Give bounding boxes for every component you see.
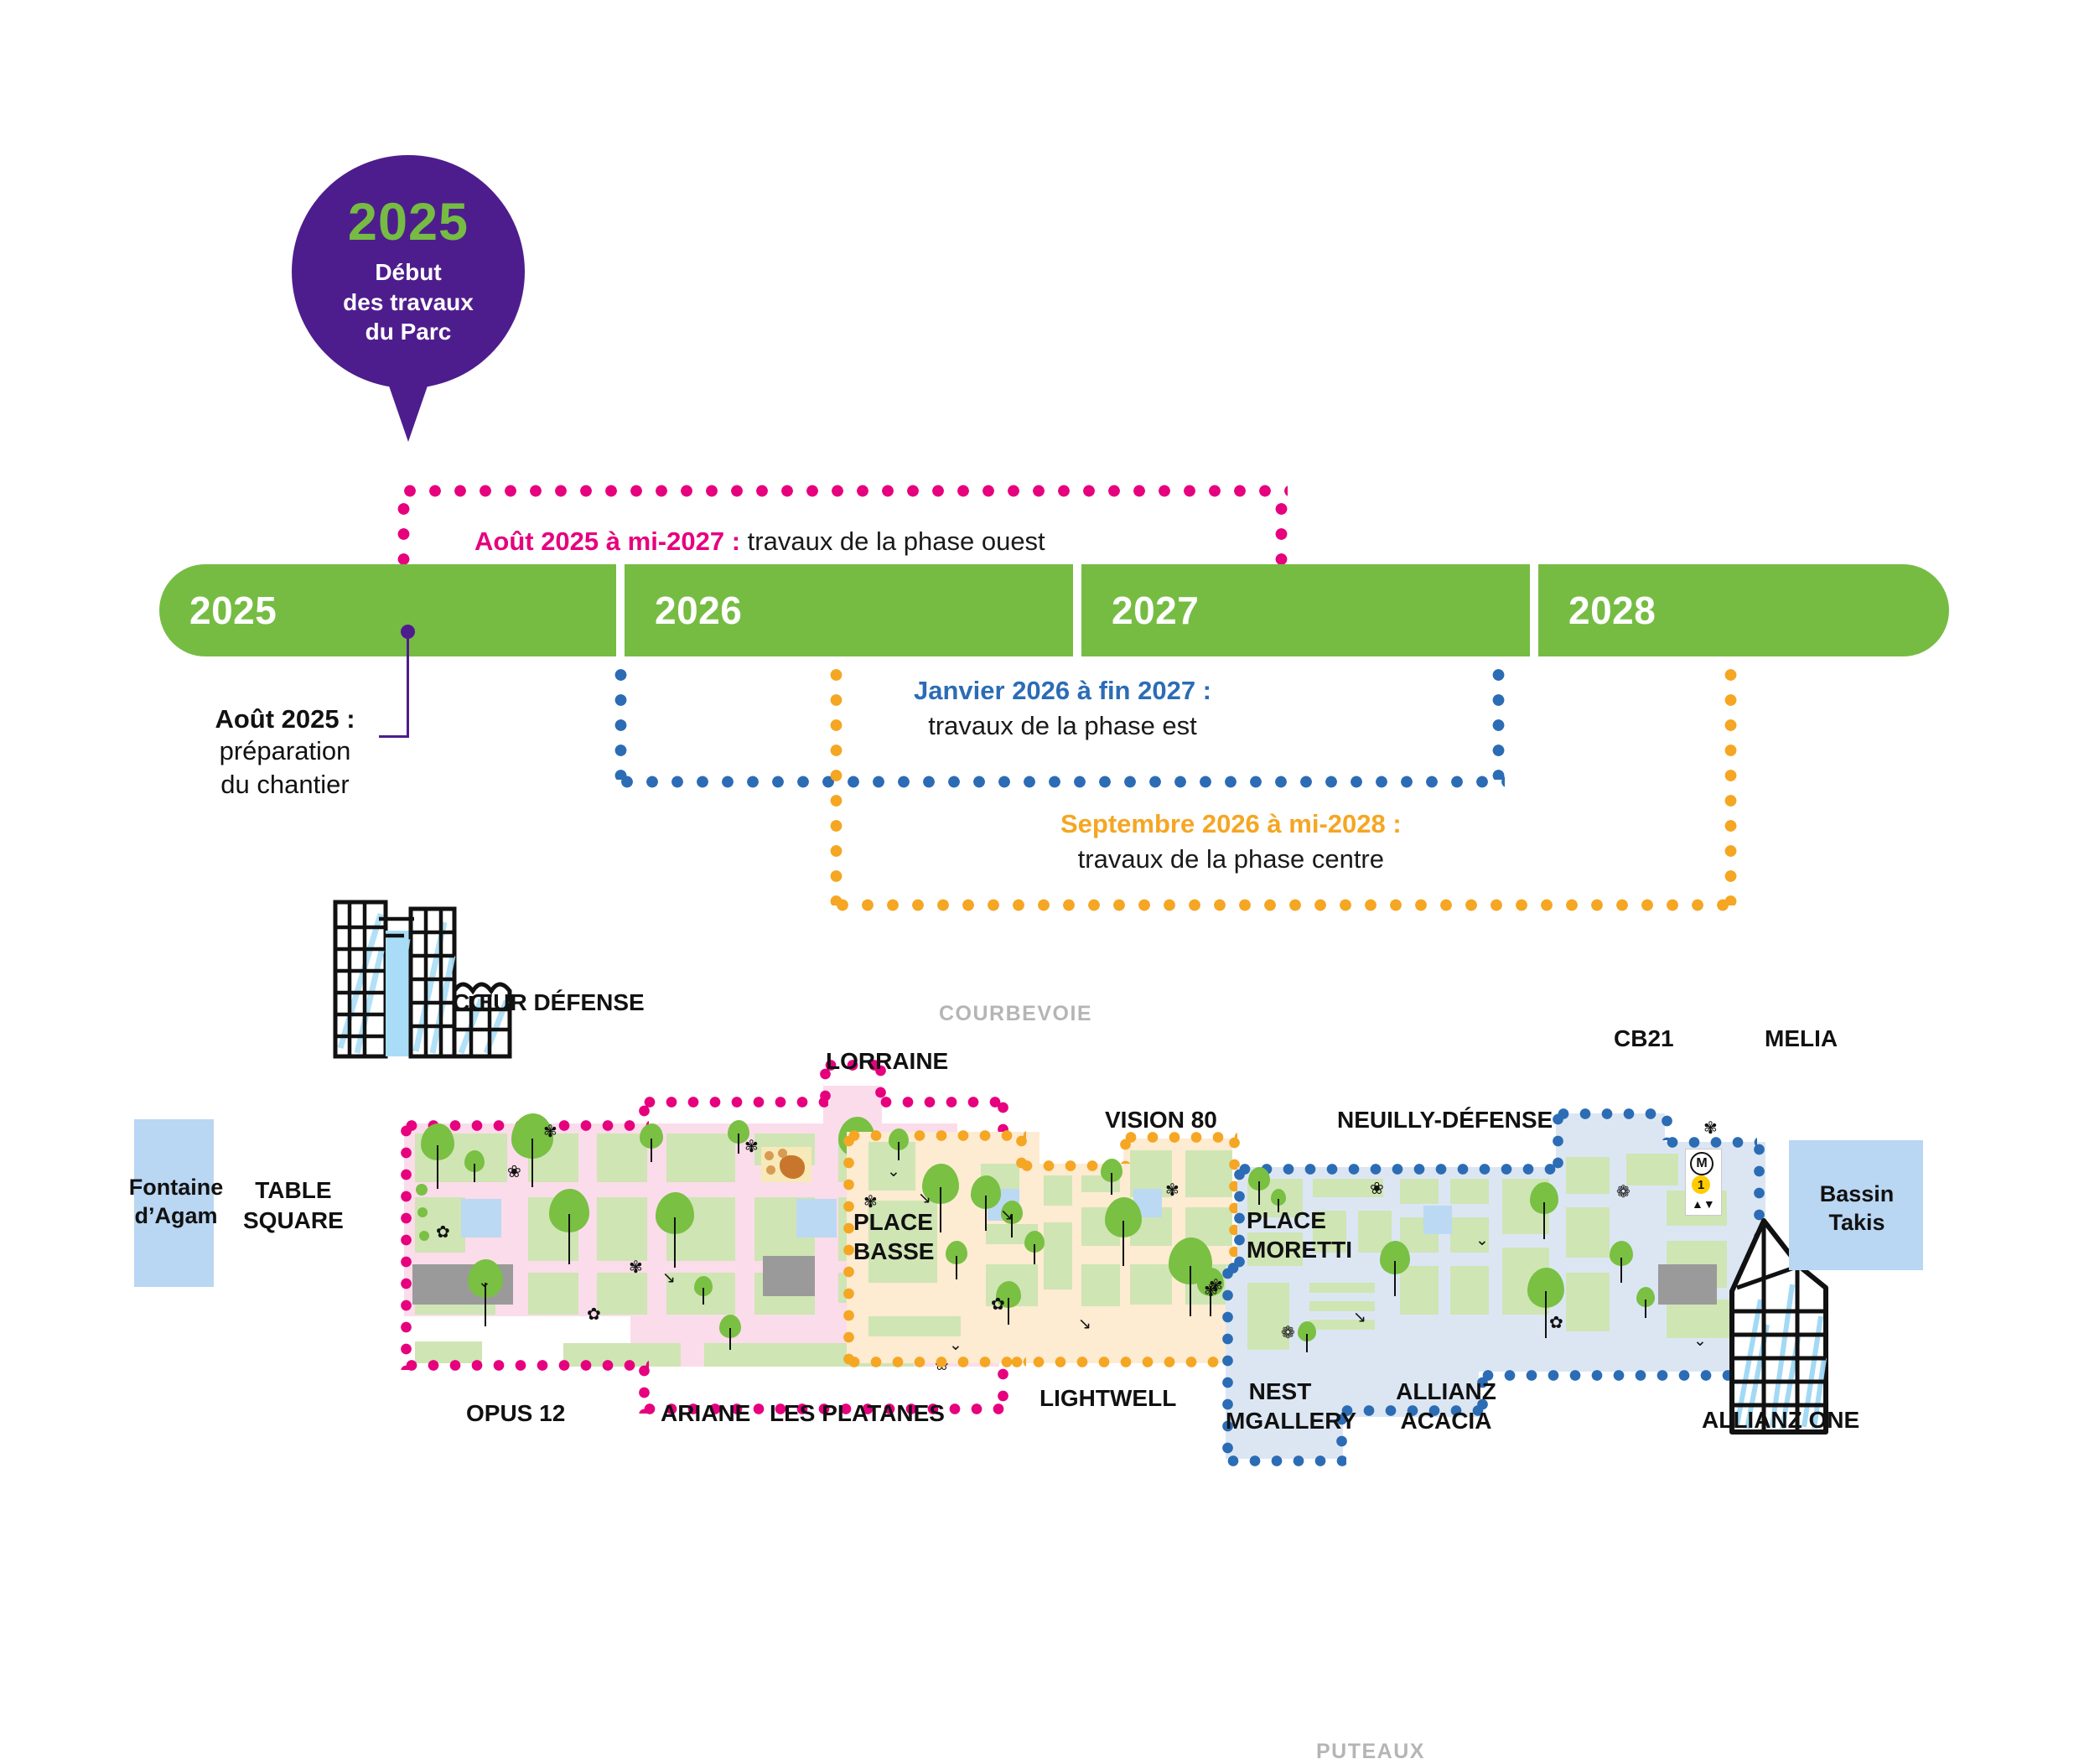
- tree-icon: [694, 1276, 713, 1306]
- bird-icon: ⌄: [949, 1337, 962, 1353]
- label-neuilly-defense: NEUILLY-DÉFENSE: [1337, 1107, 1553, 1134]
- bush-icon: [417, 1207, 428, 1217]
- coeur-defense-tower-icon: [327, 897, 520, 1065]
- phase-centre-bold: Septembre 2026 à mi-2028 :: [1060, 809, 1402, 839]
- plaza-shape: [780, 1155, 805, 1179]
- block-green: [1400, 1179, 1439, 1204]
- plaza-dot: [766, 1165, 775, 1175]
- callout-aout-2025: Août 2025 : préparation du chantier: [159, 704, 411, 802]
- tree-icon: [1636, 1287, 1655, 1319]
- label-table-square-l1: TABLE: [243, 1175, 344, 1206]
- block-green: [597, 1197, 647, 1261]
- bird-icon: ↘: [1000, 1207, 1014, 1223]
- tree-icon: [1101, 1159, 1122, 1196]
- zone-ouest-outline-top-c: [875, 1097, 1006, 1108]
- label-melia: MELIA: [1765, 1025, 1838, 1052]
- pond: [1423, 1206, 1452, 1234]
- zone-ouest-outline-bottom-a: [401, 1360, 649, 1371]
- label-vision-80: VISION 80: [1105, 1107, 1217, 1134]
- label-allianz-l2: ACACIA: [1387, 1406, 1505, 1435]
- flower-icon: ✾: [1209, 1278, 1223, 1294]
- bush-icon: [419, 1231, 429, 1241]
- flower-icon: ✾: [1165, 1182, 1179, 1199]
- plaza-dot: [778, 1149, 787, 1158]
- tree-icon: [468, 1259, 503, 1326]
- pond: [796, 1199, 837, 1237]
- flower-icon: ✿: [587, 1306, 601, 1323]
- pin-subtitle-line1: Début: [343, 257, 474, 288]
- phase-centre-rest: travaux de la phase centre: [1060, 844, 1402, 874]
- pin-year: 2025: [348, 196, 469, 249]
- block-green: [868, 1316, 961, 1336]
- label-nest-mgallery: NEST MGALLERY: [1226, 1377, 1335, 1435]
- flower-icon: ✿: [1549, 1315, 1563, 1331]
- phase-est-bracket-right: [1492, 662, 1505, 780]
- zone-est-outline-cb21-top: [1553, 1108, 1667, 1119]
- block-green: [1566, 1273, 1610, 1331]
- label-les-platanes: LES PLATANES: [770, 1400, 945, 1427]
- label-allianz-l1: ALLIANZ: [1387, 1377, 1505, 1406]
- phase-est-bracket-bottom: [614, 776, 1505, 788]
- flower-icon: ✾: [863, 1194, 878, 1211]
- label-table-square: TABLE SQUARE: [243, 1175, 344, 1237]
- label-bassin-takis-l1: Bassin: [1802, 1180, 1911, 1209]
- label-table-square-l2: SQUARE: [243, 1206, 344, 1236]
- zone-est-outline-left-upper: [1234, 1164, 1245, 1268]
- block-green: [1626, 1154, 1678, 1186]
- label-allianz-acacia: ALLIANZ ACACIA: [1387, 1377, 1505, 1435]
- phase-ouest-label: Août 2025 à mi-2027 : travaux de la phas…: [474, 527, 1045, 557]
- block-green: [1185, 1150, 1232, 1197]
- phase-centre-bracket-left: [830, 662, 842, 905]
- timeline-segment-2027[interactable]: 2027: [1081, 564, 1530, 656]
- flower-icon: ✾: [744, 1139, 759, 1155]
- bird-icon: ↘: [1078, 1316, 1091, 1332]
- tree-icon: [640, 1123, 663, 1164]
- phase-ouest-bold: Août 2025 à mi-2027 :: [474, 527, 740, 556]
- grey-block: [763, 1256, 815, 1296]
- tree-icon: [464, 1150, 485, 1184]
- label-fontaine-agam-l2: d’Agam: [117, 1202, 235, 1231]
- phase-est-label: Janvier 2026 à fin 2027 : travaux de la …: [914, 676, 1211, 741]
- flower-icon: ❁: [1616, 1184, 1631, 1201]
- bird-icon: ↘: [662, 1270, 676, 1286]
- zone-centre-outline-bottom-a: [843, 1357, 1026, 1367]
- label-bassin-takis-l2: Takis: [1802, 1209, 1911, 1237]
- bird-icon: ↘: [918, 1191, 931, 1206]
- block-green: [666, 1134, 735, 1182]
- label-bassin-takis: Bassin Takis: [1802, 1180, 1911, 1237]
- tree-icon: [1105, 1197, 1142, 1268]
- phase-ouest-rest: travaux de la phase ouest: [748, 527, 1045, 556]
- timeline-year-2027: 2027: [1112, 588, 1199, 633]
- map-container[interactable]: COURBEVOIE PUTEAUX: [0, 872, 2079, 1585]
- label-lorraine: LORRAINE: [826, 1048, 948, 1075]
- pin-subtitle-line2: des travaux: [343, 288, 474, 318]
- block-green: [1450, 1179, 1489, 1204]
- milestone-pin: 2025 Début des travaux du Parc: [292, 155, 525, 388]
- zone-est-outline-cb21-left: [1553, 1108, 1563, 1169]
- flower-icon: ✾: [629, 1259, 643, 1276]
- label-opus-12: OPUS 12: [466, 1400, 565, 1427]
- zone-centre-outline-top-a: [843, 1130, 1026, 1141]
- tree-icon: [1380, 1241, 1410, 1296]
- label-nest-l2: MGALLERY: [1226, 1406, 1335, 1435]
- block-green: [1566, 1157, 1610, 1194]
- bush-icon: [416, 1184, 428, 1196]
- metro-m-icon: M: [1690, 1152, 1713, 1175]
- city-label-puteaux: PUTEAUX: [1316, 1740, 1425, 1764]
- bird-icon: ⌄: [1475, 1232, 1489, 1248]
- zone-est-outline-top-a: [1234, 1164, 1561, 1175]
- zone-ouest-outline-top-b: [639, 1097, 828, 1108]
- timeline-year-2025: 2025: [189, 588, 277, 633]
- label-coeur-defense: CŒUR DÉFENSE: [453, 989, 645, 1016]
- label-cb21: CB21: [1614, 1025, 1674, 1052]
- block-green: [1081, 1264, 1120, 1306]
- flower-icon: ❀: [1370, 1180, 1384, 1197]
- tree-icon: [656, 1192, 694, 1269]
- label-place-moretti-l1: PLACE: [1247, 1206, 1352, 1235]
- block-green: [1130, 1264, 1172, 1305]
- zone-ouest-outline-left: [401, 1120, 412, 1370]
- flower-icon: ✿: [991, 1296, 1005, 1313]
- tree-icon: [1610, 1241, 1633, 1284]
- label-place-basse-l2: BASSE: [853, 1237, 934, 1266]
- label-nest-l1: NEST: [1226, 1377, 1335, 1406]
- timeline-segment-2028[interactable]: 2028: [1538, 564, 1949, 656]
- zone-est-outline-nest-bottom: [1222, 1455, 1346, 1466]
- label-fontaine-agam: Fontaine d’Agam: [117, 1174, 235, 1231]
- block-green: [1450, 1266, 1489, 1315]
- block-green: [1566, 1207, 1610, 1258]
- flower-icon: ✾: [543, 1123, 557, 1140]
- callout-line1: préparation: [159, 734, 411, 768]
- label-fontaine-agam-l1: Fontaine: [117, 1174, 235, 1202]
- flower-icon: ❁: [1281, 1325, 1295, 1341]
- bird-icon: ↘: [1353, 1310, 1366, 1326]
- timeline-year-2028: 2028: [1568, 588, 1656, 633]
- phase-est-bold: Janvier 2026 à fin 2027 :: [914, 676, 1211, 706]
- bird-icon: ⌄: [478, 1274, 491, 1290]
- block-green: [1309, 1283, 1375, 1293]
- metro-line-badge: 1: [1692, 1175, 1710, 1194]
- label-allianz-one: ALLIANZ ONE: [1702, 1407, 1859, 1434]
- tree-icon: [971, 1175, 1001, 1231]
- city-label-courbevoie: COURBEVOIE: [939, 1002, 1092, 1026]
- label-place-moretti: PLACE MORETTI: [1247, 1206, 1352, 1264]
- zone-centre-outline-bottom-b: [1006, 1357, 1239, 1367]
- label-lightwell: LIGHTWELL: [1039, 1385, 1176, 1412]
- tree-icon: [1298, 1321, 1316, 1353]
- bird-icon: ⌄: [887, 1164, 900, 1180]
- block-green: [1044, 1222, 1072, 1289]
- phase-centre-bracket-right: [1724, 662, 1737, 905]
- label-ariane: ARIANE: [661, 1400, 750, 1427]
- tree-icon: [719, 1315, 741, 1352]
- phase-centre-label: Septembre 2026 à mi-2028 : travaux de la…: [1060, 809, 1402, 874]
- tree-icon: [1024, 1231, 1045, 1266]
- phase-est-rest: travaux de la phase est: [914, 711, 1211, 741]
- tree-icon: [421, 1123, 454, 1191]
- timeline-bar: 2025 2026 2027 2028: [0, 558, 2079, 667]
- zone-est-outline-top-c: [1662, 1137, 1757, 1148]
- block-green: [528, 1273, 578, 1315]
- plaza-dot: [765, 1151, 774, 1160]
- block-green: [597, 1273, 647, 1315]
- pond: [461, 1199, 501, 1237]
- tree-icon: [549, 1189, 589, 1266]
- flower-icon: ✿: [436, 1224, 450, 1241]
- block-green: [1044, 1175, 1072, 1206]
- callout-line2: du chantier: [159, 768, 411, 802]
- phase-ouest-bracket-top: [397, 485, 1288, 497]
- timeline-segment-2025[interactable]: 2025: [159, 564, 616, 656]
- tree-icon: [1271, 1189, 1286, 1214]
- pin-subtitle-line3: du Parc: [343, 317, 474, 347]
- tree-icon: [1248, 1167, 1270, 1206]
- tree-icon: [946, 1241, 967, 1281]
- label-place-moretti-l2: MORETTI: [1247, 1235, 1352, 1264]
- phase-est-bracket-left: [614, 662, 627, 780]
- timeline-segment-2026[interactable]: 2026: [625, 564, 1073, 656]
- tree-icon: [1530, 1182, 1558, 1239]
- flower-icon: ❀: [507, 1164, 521, 1180]
- tree-icon: [889, 1128, 909, 1162]
- timeline-year-2026: 2026: [655, 588, 742, 633]
- callout-title: Août 2025 :: [159, 704, 411, 734]
- pin-subtitle: Début des travaux du Parc: [343, 257, 474, 347]
- flower-icon: ✾: [1703, 1120, 1718, 1137]
